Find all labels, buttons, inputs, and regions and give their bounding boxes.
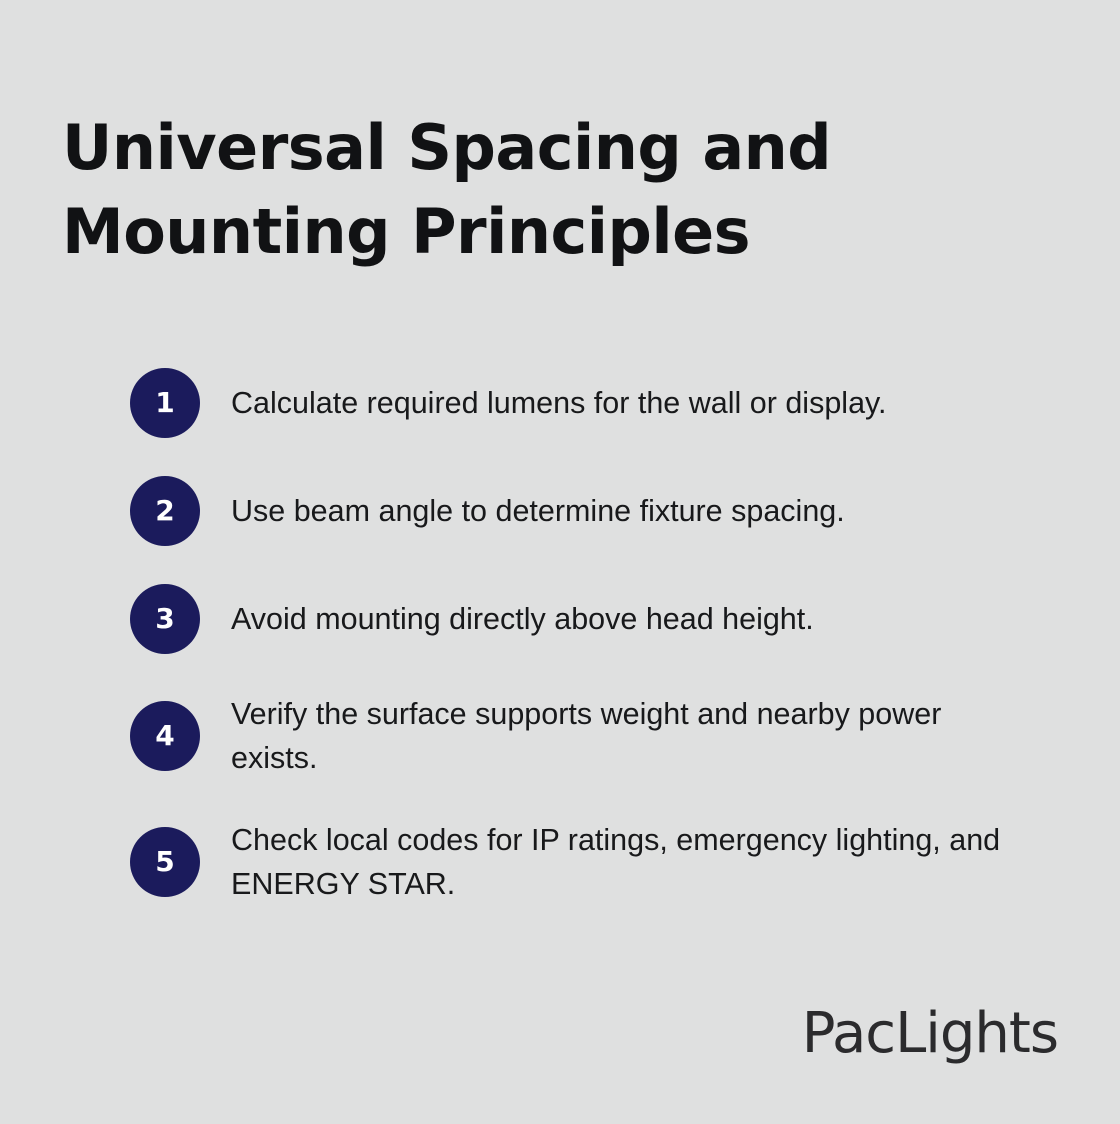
step-text: Avoid mounting directly above head heigh…: [231, 597, 1026, 641]
page-title: Universal Spacing and Mounting Principle…: [62, 106, 922, 274]
list-item: 5 Check local codes for IP ratings, emer…: [130, 818, 1030, 906]
list-item: 4 Verify the surface supports weight and…: [130, 692, 1030, 780]
step-number-badge: 1: [130, 368, 200, 438]
list-item: 3 Avoid mounting directly above head hei…: [130, 584, 1030, 654]
step-number-badge: 2: [130, 476, 200, 546]
paclights-logo: PacLights: [802, 1006, 1058, 1062]
list-item: 1 Calculate required lumens for the wall…: [130, 368, 1030, 438]
list-item: 2 Use beam angle to determine fixture sp…: [130, 476, 1030, 546]
step-number-badge: 5: [130, 827, 200, 897]
step-number-badge: 4: [130, 701, 200, 771]
step-text: Use beam angle to determine fixture spac…: [231, 489, 1026, 533]
step-text: Verify the surface supports weight and n…: [231, 692, 1026, 780]
title-block: Universal Spacing and Mounting Principle…: [62, 106, 922, 274]
poster-canvas: Universal Spacing and Mounting Principle…: [0, 0, 1120, 1124]
step-text: Calculate required lumens for the wall o…: [231, 381, 1026, 425]
step-number-badge: 3: [130, 584, 200, 654]
steps-list: 1 Calculate required lumens for the wall…: [130, 368, 1030, 906]
step-text: Check local codes for IP ratings, emerge…: [231, 818, 1026, 906]
